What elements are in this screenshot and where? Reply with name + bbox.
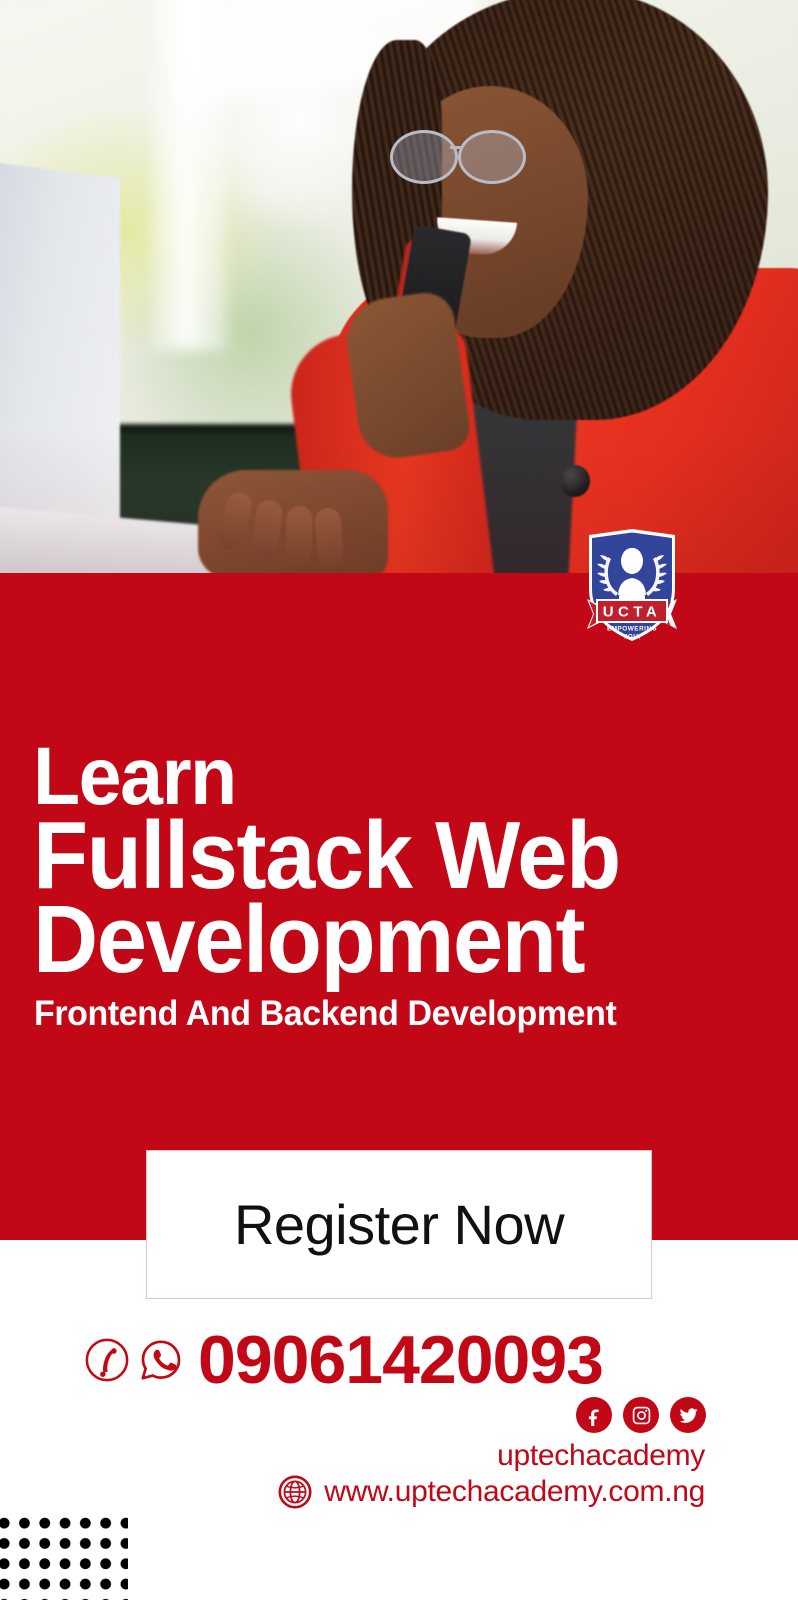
logo-tagline-line2: YOU! bbox=[623, 634, 641, 641]
social-icons-row bbox=[576, 1397, 706, 1433]
twitter-button[interactable] bbox=[670, 1397, 706, 1433]
phone-circle-icon bbox=[84, 1337, 130, 1383]
instagram-icon bbox=[631, 1405, 652, 1426]
website-url[interactable]: www.uptechacademy.com.ng bbox=[324, 1475, 705, 1509]
ucta-logo: UCTA EMPOWERING YOU! bbox=[583, 527, 681, 643]
photo-vignette bbox=[0, 0, 798, 576]
phone-contact-row: 09061420093 bbox=[84, 1326, 603, 1394]
headline-block: Learn Fullstack Web Development bbox=[33, 742, 763, 982]
headline-line-2: Fullstack Web bbox=[33, 815, 719, 898]
register-now-label: Register Now bbox=[234, 1192, 564, 1257]
globe-icon bbox=[278, 1475, 312, 1509]
social-handle[interactable]: uptechacademy bbox=[497, 1439, 705, 1473]
hero-photo bbox=[0, 0, 798, 576]
logo-acronym: UCTA bbox=[603, 604, 662, 621]
logo-tagline-line1: EMPOWERING bbox=[607, 626, 657, 633]
headline-subtitle: Frontend And Backend Development bbox=[34, 994, 752, 1034]
instagram-button[interactable] bbox=[623, 1397, 659, 1433]
facebook-button[interactable] bbox=[576, 1397, 612, 1433]
register-now-button[interactable]: Register Now bbox=[146, 1150, 652, 1299]
flyer-poster: UCTA EMPOWERING YOU! Learn Fullstack Web… bbox=[0, 0, 798, 1600]
whatsapp-icon bbox=[138, 1337, 184, 1383]
decorative-dot-grid bbox=[0, 1513, 128, 1600]
phone-number[interactable]: 09061420093 bbox=[198, 1326, 603, 1394]
website-row: www.uptechacademy.com.ng bbox=[278, 1475, 705, 1509]
twitter-icon bbox=[678, 1405, 699, 1426]
headline-line-3: Development bbox=[33, 899, 719, 982]
facebook-icon bbox=[584, 1405, 605, 1426]
